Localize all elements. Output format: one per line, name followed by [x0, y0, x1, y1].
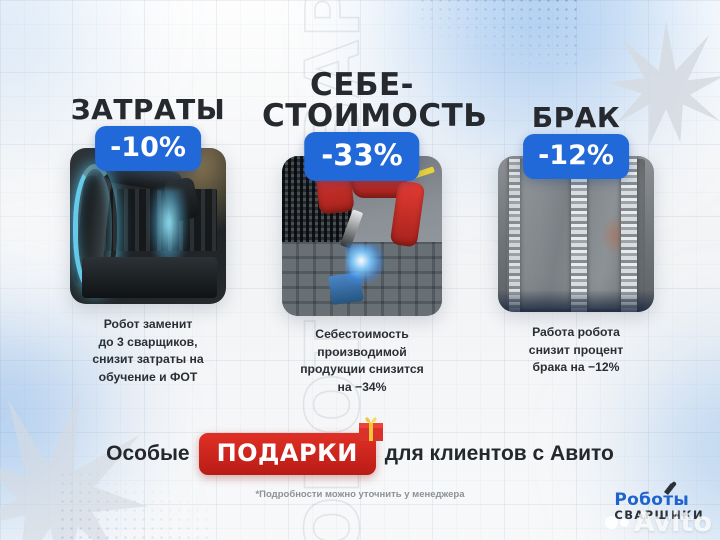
dot-grid-decoration [418, 0, 578, 68]
footnote: *Подробности можно уточнить у менеджера [0, 489, 720, 500]
welding-torch-icon [662, 481, 678, 495]
dot-grid-decoration [58, 470, 208, 540]
promo-banner: РОБОТЫ СВАРЩИКИ ЗАТРАТЫ -10% [0, 0, 720, 540]
card-title: БРАК [476, 104, 676, 132]
card-photo-wrap: -33% [262, 156, 462, 316]
card-photo [70, 148, 226, 304]
gifts-highlight: ПОДАРКИ [199, 433, 376, 475]
card-caption: Работа робота снизит процент брака на −1… [476, 324, 676, 377]
badge-percent: -33% [304, 132, 419, 181]
brand-logo: Роботы СВАРЩИКИ [614, 492, 704, 522]
badge-percent: -10% [95, 126, 201, 171]
card-photo-wrap: -12% [476, 156, 676, 312]
card-caption: Робот заменит до 3 сварщиков, снизит зат… [48, 316, 248, 387]
benefit-card-costs: ЗАТРАТЫ -10% Робот заменит д [48, 96, 248, 387]
gifts-label: ПОДАРКИ [199, 433, 376, 475]
card-caption: Себестоимость производимой продукции сни… [262, 326, 462, 397]
card-photo-wrap: -10% [48, 148, 248, 304]
promo-suffix: для клиентов с Авито [385, 442, 614, 466]
card-photo [498, 156, 654, 312]
logo-line-1: Роботы [614, 492, 704, 509]
promo-line: Особые ПОДАРКИ для клиентов с Авито [0, 432, 720, 476]
benefit-cards: ЗАТРАТЫ -10% Робот заменит д [0, 64, 720, 404]
promo-prefix: Особые [106, 442, 189, 466]
card-title: ЗАТРАТЫ [48, 96, 248, 124]
benefit-card-cost-price: СЕБЕ- СТОИМОСТЬ -33% [262, 70, 462, 397]
gift-icon [356, 415, 386, 443]
card-title: СЕБЕ- СТОИМОСТЬ [262, 70, 462, 132]
badge-percent: -12% [523, 134, 629, 179]
benefit-card-defects: БРАК -12% Работа робота снизит процент б… [476, 104, 676, 377]
logo-line-2: СВАРЩИКИ [614, 510, 704, 522]
